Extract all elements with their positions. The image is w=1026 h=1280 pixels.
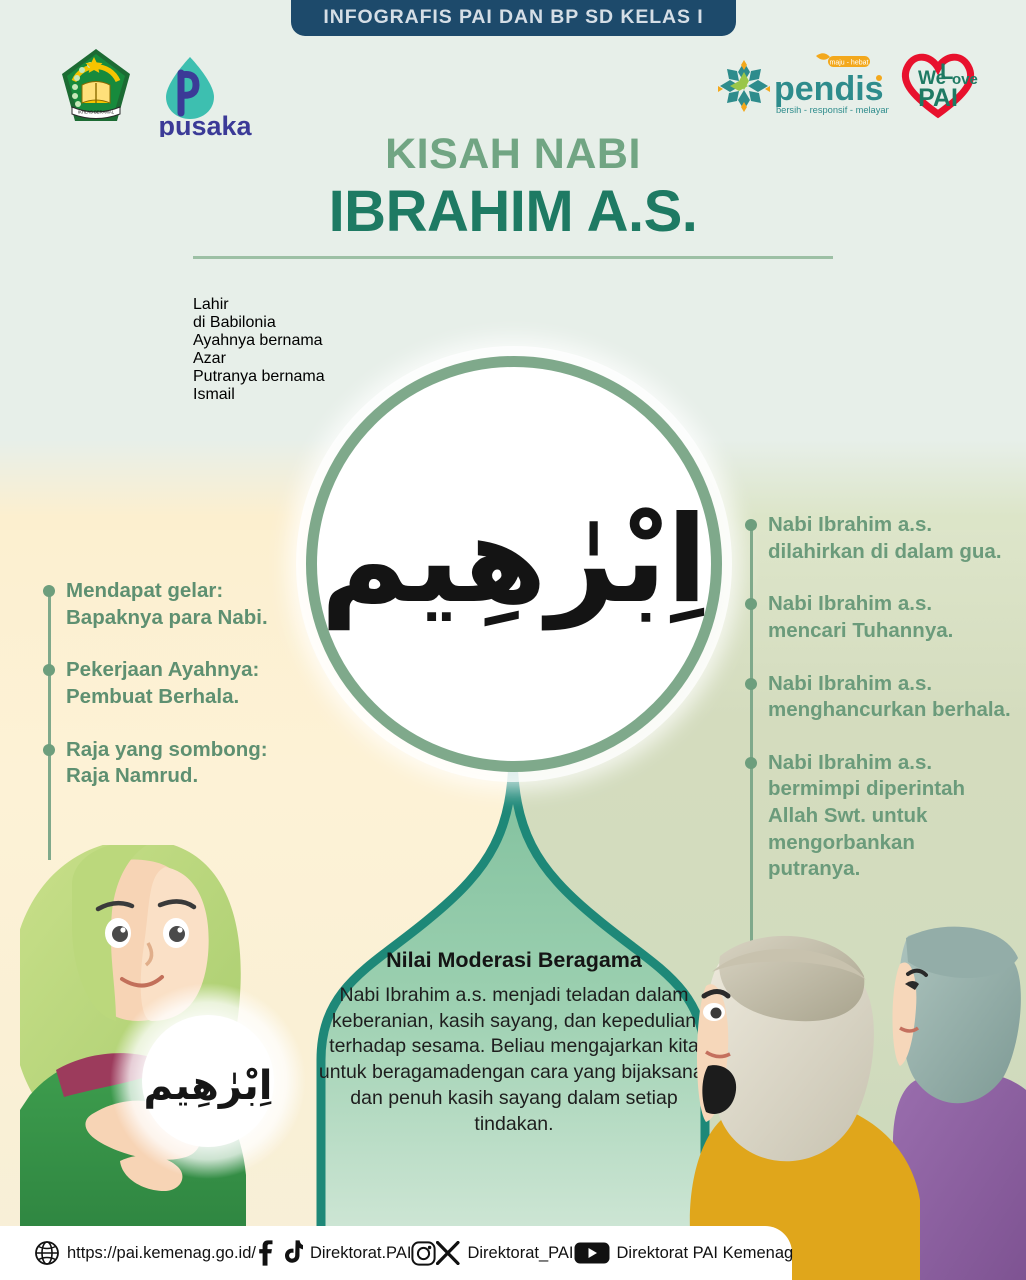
center-name-circle: اِبْرٰهِيم: [306, 356, 722, 772]
pendis-logo: maju - hebat pendis bersih - responsif -…: [716, 52, 889, 120]
footer-website[interactable]: https://pai.kemenag.go.id/: [34, 1240, 256, 1266]
footer-website-label: https://pai.kemenag.go.id/: [67, 1244, 256, 1263]
pendis-tagline: bersih - responsif - melayani: [776, 105, 889, 115]
left-fact-list: Mendapat gelar: Bapaknya para Nabi. Peke…: [40, 578, 305, 816]
list-item: Nabi Ibrahim a.s. dilahirkan di dalam gu…: [742, 512, 1012, 565]
list-item-label: Mendapat gelar: Bapaknya para Nabi.: [66, 579, 268, 629]
pendis-ornament-icon: [718, 60, 770, 112]
bullet-dot-icon: [745, 519, 757, 531]
list-item-label: Nabi Ibrahim a.s. mencari Tuhannya.: [768, 592, 953, 642]
youtube-icon: [574, 1240, 610, 1266]
moderation-body: Nabi Ibrahim a.s. menjadi teladan dalam …: [318, 983, 710, 1137]
footer-facebook-tiktok[interactable]: Direktorat.PAI: [256, 1240, 411, 1266]
list-item: Pekerjaan Ayahnya: Pembuat Berhala.: [40, 657, 305, 710]
list-item: Nabi Ibrahim a.s. menghancurkan berhala.: [742, 671, 1012, 724]
list-item: Mendapat gelar: Bapaknya para Nabi.: [40, 578, 305, 631]
title-small: KISAH NABI: [0, 133, 1026, 176]
instagram-icon: [411, 1241, 436, 1266]
footer-instagram-x[interactable]: Direktorat_PAI: [411, 1241, 573, 1266]
footer-youtube-label: Direktorat PAI Kemenag: [617, 1244, 794, 1263]
bullet-dot-icon: [745, 757, 757, 769]
globe-icon: [34, 1240, 60, 1266]
pusaka-logo: pusaka: [150, 55, 260, 137]
list-item-label: Pekerjaan Ayahnya: Pembuat Berhala.: [66, 658, 259, 708]
bullet-dot-icon: [43, 664, 55, 676]
girl-with-hijab-illustration: اِبْرٰهِيم: [20, 845, 350, 1245]
center-arabic-name: اِبْرٰهِيم: [320, 501, 707, 621]
girl-orb-arabic: اِبْرٰهِيم: [143, 1063, 272, 1109]
bullet-dot-icon: [43, 585, 55, 597]
pendis-wordmark: pendis: [774, 70, 884, 108]
title-divider: [193, 256, 833, 259]
list-item-label: Nabi Ibrahim a.s. dilahirkan di dalam gu…: [768, 513, 1002, 563]
svg-text:maju - hebat: maju - hebat: [830, 60, 869, 67]
moderation-title: Nilai Moderasi Beragama: [318, 948, 710, 973]
welove-pai-logo: We L ove PAI: [898, 48, 978, 120]
footer-bar: https://pai.kemenag.go.id/ Direktorat.PA…: [0, 1226, 792, 1280]
right-fact-list: Nabi Ibrahim a.s. dilahirkan di dalam gu…: [742, 512, 1012, 909]
footer-facebook-tiktok-label: Direktorat.PAI: [310, 1244, 411, 1263]
bullet-dot-icon: [43, 744, 55, 756]
facebook-icon: [256, 1240, 274, 1266]
svg-text:PAI: PAI: [918, 84, 958, 112]
page-title: KISAH NABI IBRAHIM A.S.: [0, 133, 1026, 245]
svg-text:IKHLAS BERAMAL: IKHLAS BERAMAL: [78, 109, 115, 114]
pusaka-droplet-icon: [166, 57, 214, 119]
header-banner-text: INFOGRAFIS PAI DAN BP SD KELAS I: [323, 6, 703, 29]
moderation-text-block: Nilai Moderasi Beragama Nabi Ibrahim a.s…: [318, 948, 710, 1137]
list-item: Raja yang sombong: Raja Namrud.: [40, 737, 305, 790]
list-item-label: Raja yang sombong: Raja Namrud.: [66, 738, 268, 788]
footer-youtube[interactable]: Direktorat PAI Kemenag: [574, 1240, 794, 1266]
tiktok-icon: [283, 1240, 303, 1266]
footer-instagram-x-label: Direktorat_PAI: [467, 1244, 573, 1263]
x-twitter-icon: [436, 1241, 460, 1265]
pendis-badge: maju - hebat: [816, 53, 870, 67]
list-item-label: Nabi Ibrahim a.s. bermimpi diperintah Al…: [768, 751, 965, 881]
kemenag-logo: IKHLAS BERAMAL: [60, 47, 132, 125]
infographic-poster: INFOGRAFIS PAI DAN BP SD KELAS I IKHLAS …: [0, 0, 1026, 1280]
fact-row: Lahirdi Babilonia Ayahnya bernamaAzar Pu…: [193, 278, 833, 346]
two-elders-illustration: [660, 900, 1026, 1280]
header-banner: INFOGRAFIS PAI DAN BP SD KELAS I: [291, 0, 736, 36]
list-item-label: Nabi Ibrahim a.s. menghancurkan berhala.: [768, 672, 1011, 722]
list-item: Nabi Ibrahim a.s. mencari Tuhannya.: [742, 591, 1012, 644]
bullet-dot-icon: [745, 598, 757, 610]
title-large: IBRAHIM A.S.: [0, 180, 1026, 245]
bullet-dot-icon: [745, 678, 757, 690]
list-item: Nabi Ibrahim a.s. bermimpi diperintah Al…: [742, 750, 1012, 883]
